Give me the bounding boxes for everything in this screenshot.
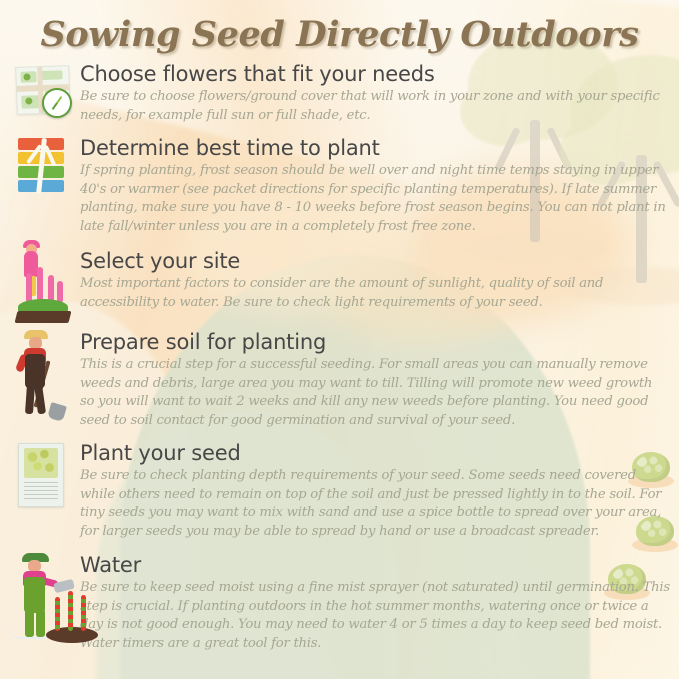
- step-text: Plant your seed Be sure to check plantin…: [76, 441, 670, 541]
- step-body: If spring planting, frost season should …: [80, 162, 670, 236]
- step-heading: Water: [80, 553, 670, 578]
- watering-gardener-icon: [10, 553, 102, 647]
- step-text: Determine best time to plant If spring p…: [76, 136, 670, 236]
- step-body: Be sure to check planting depth requirem…: [80, 467, 670, 541]
- seed-packet-icon: [10, 441, 76, 511]
- poster-content: Sowing Seed Directly Outdoors: [0, 0, 679, 679]
- four-seasons-icon: [10, 136, 76, 196]
- infographic-poster: Sowing Seed Directly Outdoors: [0, 0, 679, 679]
- packet-photo: [24, 448, 58, 478]
- step-heading: Choose flowers that fit your needs: [80, 62, 670, 87]
- step-water: Water Be sure to keep seed moist using a…: [10, 553, 670, 653]
- step-heading: Select your site: [80, 249, 670, 274]
- step-body: This is a crucial step for a successful …: [80, 356, 670, 430]
- packet-instructions-text: [24, 482, 58, 502]
- step-body: Most important factors to consider are t…: [80, 275, 670, 312]
- step-text: Water Be sure to keep seed moist using a…: [80, 553, 670, 653]
- step-text: Prepare soil for planting This is a cruc…: [76, 330, 670, 430]
- page-title: Sowing Seed Directly Outdoors: [0, 14, 679, 55]
- step-text: Select your site Most important factors …: [76, 249, 670, 312]
- gardener-with-spade-icon: [10, 330, 76, 424]
- step-prepare-soil: Prepare soil for planting This is a cruc…: [10, 330, 670, 430]
- step-body: Be sure to keep seed moist using a fine …: [80, 579, 670, 653]
- step-heading: Determine best time to plant: [80, 136, 670, 161]
- flower-tray-gardener-icon: [10, 249, 76, 327]
- step-select-site: Select your site Most important factors …: [10, 249, 670, 327]
- step-body: Be sure to choose flowers/ground cover t…: [80, 88, 670, 125]
- compass-icon: [42, 88, 72, 118]
- step-determine-time: Determine best time to plant If spring p…: [10, 136, 670, 236]
- step-heading: Prepare soil for planting: [80, 330, 670, 355]
- step-choose-flowers: Choose flowers that fit your needs Be su…: [10, 62, 670, 126]
- step-plant-seed: Plant your seed Be sure to check plantin…: [10, 441, 670, 541]
- step-text: Choose flowers that fit your needs Be su…: [76, 62, 670, 125]
- step-heading: Plant your seed: [80, 441, 670, 466]
- garden-plan-compass-icon: [10, 62, 76, 126]
